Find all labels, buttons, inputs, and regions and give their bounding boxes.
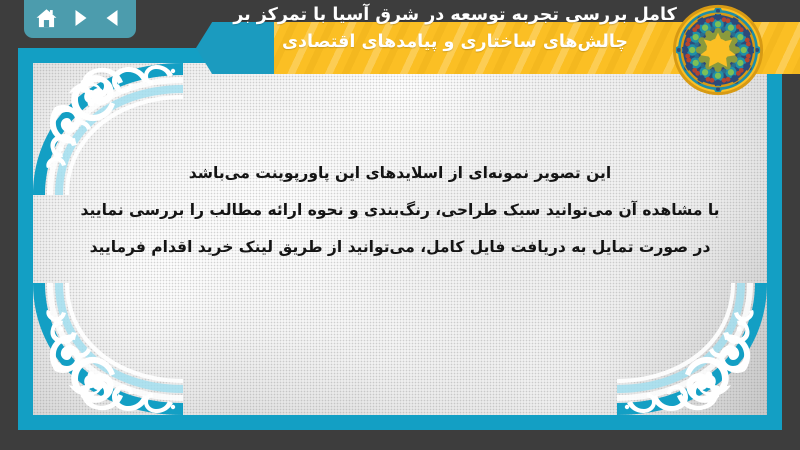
home-button[interactable] <box>34 5 60 31</box>
navigation-toolbar <box>24 0 136 38</box>
slide-preview-stage: این تصویر نمونه‌ای از اسلایدهای این پاور… <box>0 0 800 450</box>
slide-body-line-3: در صورت تمایل به دریافت فایل کامل، می‌تو… <box>73 229 727 266</box>
arabesque-corner-icon <box>617 283 767 415</box>
triangle-left-icon <box>102 7 124 29</box>
home-icon <box>35 7 58 30</box>
page-title: کامل بررسی تجربه توسعه در شرق آسیا با تم… <box>200 2 710 56</box>
slide-body-line-1: این تصویر نمونه‌ای از اسلایدهای این پاور… <box>73 155 727 192</box>
slide-body-text: این تصویر نمونه‌ای از اسلایدهای این پاور… <box>73 155 727 266</box>
slide-canvas: این تصویر نمونه‌ای از اسلایدهای این پاور… <box>33 63 767 415</box>
slide-frame: این تصویر نمونه‌ای از اسلایدهای این پاور… <box>18 48 782 430</box>
triangle-right-icon <box>69 7 91 29</box>
previous-slide-button[interactable] <box>100 5 126 31</box>
ornamental-medallion-icon <box>672 4 764 96</box>
slide-body-line-2: با مشاهده آن می‌توانید سبک طراحی، رنگ‌بن… <box>73 192 727 229</box>
next-slide-button[interactable] <box>67 5 93 31</box>
arabesque-corner-icon <box>33 283 183 415</box>
